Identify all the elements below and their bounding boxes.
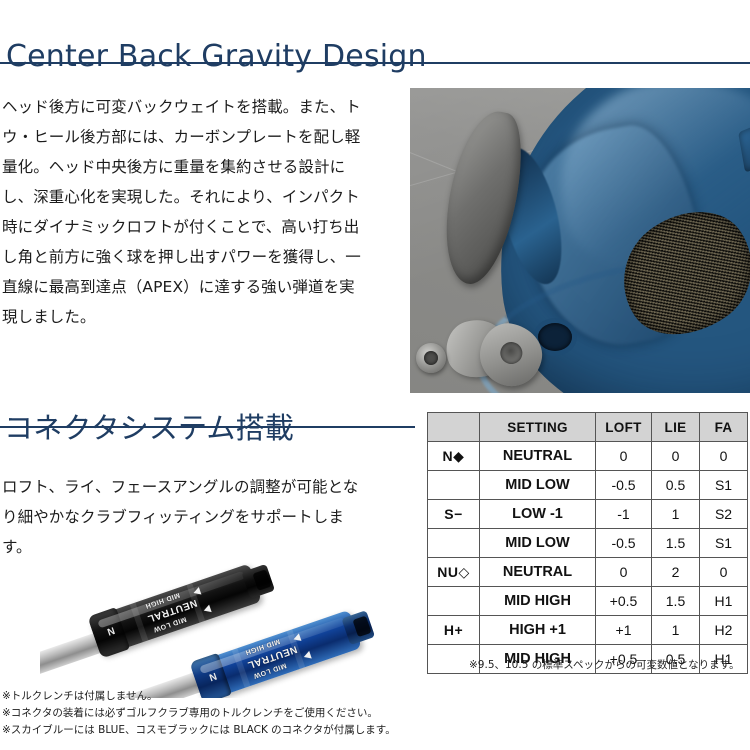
title-divider-gravity	[0, 62, 750, 64]
cell-setting: MID LOW	[480, 471, 596, 500]
table-row: S−LOW -1-11S2	[428, 500, 748, 529]
cell-loft: 0	[596, 558, 652, 587]
cell-lie: 1.5	[652, 587, 700, 616]
table-header-row: SETTING LOFT LIE FA	[428, 413, 748, 442]
cell-loft: +0.5	[596, 587, 652, 616]
cell-mark: H+	[428, 616, 480, 645]
cell-lie: 1	[652, 616, 700, 645]
body-text-gravity: ヘッド後方に可変バックウェイトを搭載。また、トウ・ヒール後方部には、カーボンプレ…	[2, 92, 368, 332]
connector-arrow-icon	[303, 651, 312, 661]
cell-lie: 2	[652, 558, 700, 587]
cell-mark: S−	[428, 500, 480, 529]
cell-mark	[428, 529, 480, 558]
table-row: NU◇NEUTRAL020	[428, 558, 748, 587]
connector-arrow-icon	[202, 605, 211, 615]
table-row: N◆NEUTRAL000	[428, 442, 748, 471]
cell-fa: S2	[700, 500, 748, 529]
column-header-setting: SETTING	[480, 413, 596, 442]
cell-mark: NU◇	[428, 558, 480, 587]
cell-setting: LOW -1	[480, 500, 596, 529]
cell-fa: 0	[700, 442, 748, 471]
footnotes: ※トルクレンチは付属しません。 ※コネクタの装着には必ずゴルフクラブ専用のトルク…	[2, 688, 396, 739]
product-image-driver-head	[410, 88, 750, 393]
cell-setting: NEUTRAL	[480, 558, 596, 587]
page-title-gravity: Center Back Gravity Design	[6, 39, 427, 75]
spec-table-note: ※9.5、10.5 の標準スペックからの可変数値となります。	[469, 657, 740, 672]
cell-fa: H1	[700, 587, 748, 616]
column-header-loft: LOFT	[596, 413, 652, 442]
cell-lie: 0	[652, 442, 700, 471]
connector-tip	[341, 610, 375, 645]
cell-setting: NEUTRAL	[480, 442, 596, 471]
cell-setting: MID LOW	[480, 529, 596, 558]
cell-fa: H2	[700, 616, 748, 645]
footnote-item: ※コネクタの装着には必ずゴルフクラブ専用のトルクレンチをご使用ください。	[2, 705, 396, 722]
cell-loft: 0	[596, 442, 652, 471]
cell-setting: MID HIGH	[480, 587, 596, 616]
spec-table: SETTING LOFT LIE FA N◆NEUTRAL000MID LOW-…	[427, 412, 748, 674]
cell-fa: S1	[700, 529, 748, 558]
cell-loft: -0.5	[596, 471, 652, 500]
cell-loft: -0.5	[596, 529, 652, 558]
connector-blue: N NEUTRAL MID HIGH MID LOW	[190, 610, 362, 698]
connector-tip	[241, 564, 275, 599]
cell-mark	[428, 471, 480, 500]
cell-mark: N◆	[428, 442, 480, 471]
page-title-connector: コネクタシステム搭載	[4, 411, 294, 445]
table-row: MID HIGH+0.51.5H1	[428, 587, 748, 616]
cell-fa: 0	[700, 558, 748, 587]
cell-fa: S1	[700, 471, 748, 500]
footnote-item: ※トルクレンチは付属しません。	[2, 688, 396, 705]
weight-screw	[416, 343, 446, 373]
footnote-item: ※スカイブルーには BLUE、コスモブラックには BLACK のコネクタが付属し…	[2, 722, 396, 739]
table-row: H+HIGH +1+11H2	[428, 616, 748, 645]
connector-black: N NEUTRAL MID HIGH MID LOW	[88, 563, 262, 656]
cell-mark	[428, 587, 480, 616]
cell-lie: 1	[652, 500, 700, 529]
weight-port	[538, 323, 572, 351]
cell-lie: 0.5	[652, 471, 700, 500]
cell-loft: -1	[596, 500, 652, 529]
table-row: MID LOW-0.50.5S1	[428, 471, 748, 500]
title-divider-connector	[0, 426, 415, 428]
column-header-fa: FA	[700, 413, 748, 442]
product-image-connectors: N NEUTRAL MID HIGH MID LOW N NEUTRAL MID…	[40, 528, 460, 698]
column-header-mark	[428, 413, 480, 442]
cell-setting: HIGH +1	[480, 616, 596, 645]
cell-loft: +1	[596, 616, 652, 645]
column-header-lie: LIE	[652, 413, 700, 442]
cell-lie: 1.5	[652, 529, 700, 558]
table-row: MID LOW-0.51.5S1	[428, 529, 748, 558]
